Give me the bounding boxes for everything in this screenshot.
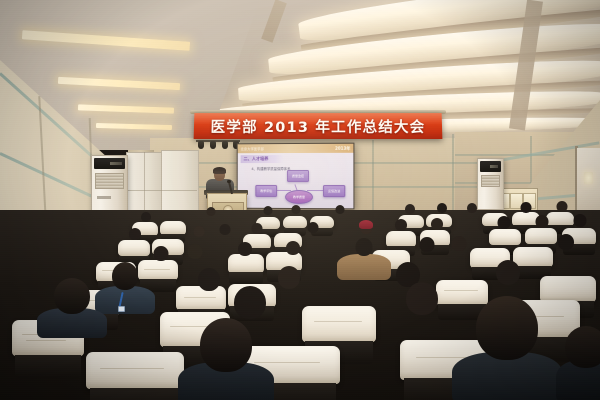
person-head	[406, 282, 438, 315]
audience-person	[186, 244, 204, 262]
wall-cabinet-seam-2	[126, 190, 197, 191]
chair-back-cover	[546, 212, 574, 226]
chair-back-cover	[86, 352, 184, 389]
person-head	[395, 219, 407, 231]
wall-sconce-light-icon	[584, 172, 593, 184]
speaker-hair	[213, 167, 226, 174]
person-head	[405, 204, 415, 214]
ac-display-readout-left	[110, 162, 122, 165]
air-conditioner-right	[477, 158, 504, 210]
person-head	[188, 244, 203, 259]
audience-person	[556, 234, 576, 254]
audience-person	[572, 214, 588, 230]
back-wall-seam-3	[372, 140, 374, 210]
audience-person	[276, 266, 302, 292]
chair-cover-fold	[444, 290, 478, 291]
chair-cover-fold	[100, 368, 164, 369]
audience-person	[404, 204, 416, 216]
audience-person	[36, 278, 108, 334]
person-head	[565, 326, 600, 368]
person-head	[356, 238, 373, 256]
person-head	[558, 234, 574, 250]
diagram-node-center-label: 教学质量	[293, 195, 305, 198]
diagram-node-top: 质量监控	[287, 170, 309, 182]
audience-person	[205, 207, 217, 219]
person-head	[498, 216, 511, 229]
audience-person-red-beanie	[358, 220, 374, 236]
chair-seat	[15, 355, 81, 378]
person-head	[238, 242, 252, 256]
chair-cover-fold	[26, 340, 66, 341]
ac-brand-logo-left	[97, 196, 111, 199]
chair-cover-fold	[184, 297, 216, 298]
chair-cover-fold	[314, 321, 362, 322]
diagram-node-right: 反馈改进	[323, 185, 345, 197]
slide-logo-text: 北京大学医学部	[241, 146, 264, 151]
ac-display-readout-right	[490, 165, 498, 168]
banner-text: 医学部 2013 年工作总结大会	[210, 116, 425, 137]
diagram-node-left-label: 教学评估	[260, 189, 272, 192]
person-head	[467, 203, 477, 213]
person-head	[431, 218, 443, 230]
person-head	[476, 296, 538, 360]
audience-person	[236, 242, 254, 260]
slide-section-title: 二、人才培养	[244, 156, 269, 162]
ceiling-beam-2	[261, 0, 287, 43]
person-head	[264, 206, 273, 215]
audience-person	[140, 212, 152, 224]
person-head	[141, 212, 151, 222]
chair-seat	[90, 388, 180, 400]
audience-person-tan-jacket	[336, 238, 392, 278]
audience-person	[400, 282, 444, 322]
person-head	[207, 207, 216, 216]
audience-person-foreground-right	[452, 296, 562, 400]
audience-person	[520, 202, 532, 214]
person-head	[452, 236, 467, 251]
diagram-edge-right	[307, 190, 323, 191]
person-shoulders	[337, 254, 391, 280]
ac-display-panel-left	[94, 158, 125, 169]
chair-back-cover	[160, 221, 186, 235]
audience-person	[218, 224, 232, 238]
person-head	[437, 203, 447, 213]
audience-person-foreground-left	[178, 318, 274, 400]
chair[interactable]	[86, 352, 184, 400]
conference-banner: 医学部 2013 年工作总结大会	[194, 113, 443, 139]
person-head	[220, 224, 231, 235]
audience-person	[450, 236, 468, 254]
diagram-node-left: 教学评估	[255, 185, 277, 197]
audience-person	[496, 216, 512, 232]
chair-seat	[229, 272, 262, 284]
person-head	[200, 318, 252, 372]
spotlight-icon-3	[222, 141, 228, 149]
audience-person	[534, 215, 550, 231]
audience-person	[436, 203, 448, 215]
audience-person	[418, 237, 436, 255]
audience-person	[250, 223, 264, 237]
ac-vent-left	[95, 173, 124, 189]
spotlight-icon-1	[198, 141, 204, 149]
chair-back-cover	[302, 306, 376, 342]
person-head	[496, 260, 520, 285]
person-head	[336, 205, 345, 214]
person-head	[194, 226, 205, 237]
audience-person	[284, 241, 302, 259]
projection-screen: 北京大学医学部 2013年 二、人才培养 4、构建教学质量保障体系 质量监控 教…	[238, 144, 354, 209]
red-beanie-hat	[359, 220, 373, 229]
audience-person	[334, 205, 346, 217]
audience-person	[494, 260, 522, 288]
person-head	[420, 237, 435, 252]
audience-person	[430, 218, 444, 232]
person-head	[574, 214, 587, 227]
diagram-edge-left	[275, 190, 291, 191]
ac-vent-right	[481, 175, 500, 187]
projection-screen-frame: 北京大学医学部 2013年 二、人才培养 4、构建教学质量保障体系 质量监控 教…	[237, 143, 355, 210]
diagram-node-right-label: 反馈改进	[328, 190, 340, 193]
person-head	[292, 205, 301, 214]
diagram-node-center: 教学质量	[285, 190, 313, 204]
ac-display-panel-right	[480, 161, 501, 172]
spotlight-icon-2	[210, 141, 216, 149]
person-head	[536, 215, 549, 228]
person-head	[252, 223, 263, 234]
person-head	[54, 278, 90, 314]
audience-person	[466, 203, 478, 215]
name-badge	[118, 306, 125, 312]
person-head	[198, 268, 220, 291]
person-head	[154, 246, 169, 261]
slide-header-bar: 北京大学医学部 2013年	[238, 144, 354, 154]
person-head	[234, 286, 266, 319]
person-head	[112, 262, 138, 290]
audience-person	[262, 206, 274, 218]
audience-person	[128, 228, 142, 242]
audience-person	[192, 226, 206, 240]
audience-person	[394, 219, 408, 233]
diagram-node-top-label: 质量监控	[292, 174, 304, 177]
person-head	[308, 222, 319, 233]
person-head	[286, 241, 300, 255]
audience-person	[306, 222, 320, 236]
chair-back-cover	[118, 240, 150, 256]
conference-room-photo: 医学部 2013 年工作总结大会 北京大学医学部 2013年 二、人才培养 4、…	[0, 0, 600, 400]
slide-year-label: 2013年	[335, 145, 350, 151]
audience-person	[196, 268, 222, 294]
chair-back-cover	[283, 216, 307, 228]
audience-person	[290, 205, 302, 217]
slide-section-titlebar: 二、人才培养	[241, 155, 284, 163]
person-head	[521, 202, 532, 213]
slide-bullet-text: 4、构建教学质量保障体系	[251, 166, 290, 171]
person-head	[278, 266, 300, 289]
audience-person-foreground-far-right	[556, 326, 600, 400]
person-head	[129, 228, 141, 240]
audience-person	[556, 201, 568, 213]
person-head	[557, 201, 568, 212]
microphone-head-icon	[227, 180, 231, 183]
